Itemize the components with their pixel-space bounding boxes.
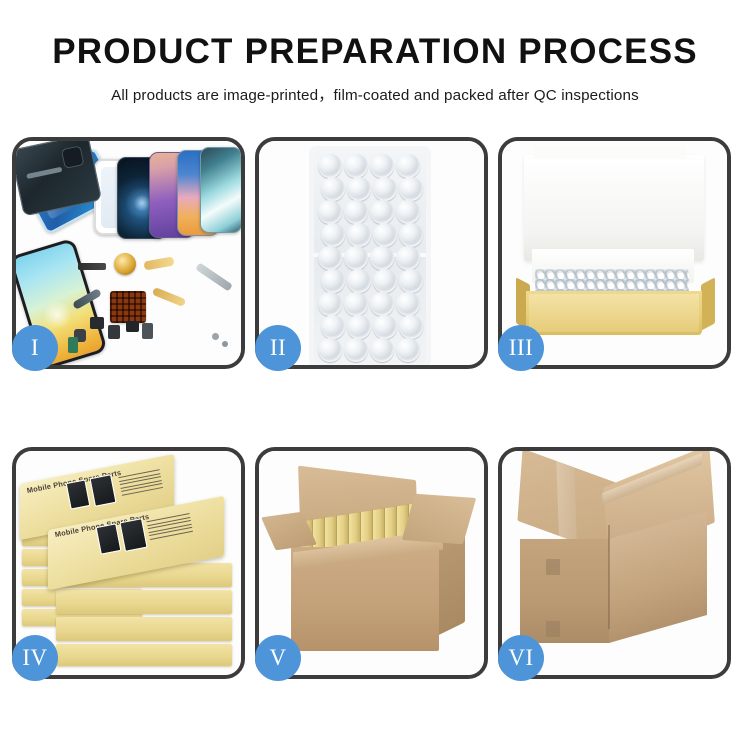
panel-carton-filled[interactable]: V bbox=[255, 447, 488, 679]
bubble bbox=[321, 177, 345, 201]
bubble bbox=[396, 200, 420, 224]
sealed-carton-face-left bbox=[520, 539, 610, 643]
bubble bbox=[396, 292, 420, 316]
flex-cable-gold-b bbox=[152, 287, 187, 307]
bubble bbox=[399, 269, 423, 293]
panel-badge-6: VI bbox=[498, 635, 544, 681]
panel-badge-1: I bbox=[12, 325, 58, 371]
page-header: PRODUCT PREPARATION PROCESS All products… bbox=[0, 0, 750, 105]
bubble bbox=[399, 223, 423, 247]
bubble bbox=[347, 269, 371, 293]
bubble bbox=[318, 338, 342, 362]
sealed-carton-tab-bottom bbox=[546, 621, 560, 637]
bubble bbox=[370, 338, 394, 362]
panel-inner-box[interactable]: III bbox=[498, 137, 731, 369]
panel-badge-3: III bbox=[498, 325, 544, 371]
screw-part-a bbox=[212, 333, 219, 340]
bubble bbox=[344, 154, 368, 178]
process-panel-grid: I II III bbox=[12, 137, 738, 682]
bubble bbox=[318, 292, 342, 316]
box-label-lines-top bbox=[118, 469, 163, 498]
bubble bbox=[347, 223, 371, 247]
box-label-screen-second-2 bbox=[119, 518, 147, 552]
bubble bbox=[373, 315, 397, 339]
chip-part-a bbox=[90, 317, 104, 329]
panel-bubble-wrap[interactable]: II bbox=[255, 137, 488, 369]
box-label-lines-second bbox=[146, 513, 193, 543]
copper-mesh-part bbox=[110, 291, 146, 323]
box-label-screen-top-2 bbox=[89, 474, 116, 507]
screw-part-b bbox=[222, 341, 228, 347]
box-lid-tab bbox=[534, 147, 686, 159]
panel-carton-sealed[interactable]: VI bbox=[498, 447, 731, 679]
copper-coil-part bbox=[114, 253, 136, 275]
bubble bbox=[396, 154, 420, 178]
bubble bbox=[321, 223, 345, 247]
sealed-carton-tab-top bbox=[546, 559, 560, 575]
bubble bbox=[370, 200, 394, 224]
panel-boxes-stacked[interactable]: Mobile Phone Spare Parts Mobile Phone Sp… bbox=[12, 447, 245, 679]
bubble bbox=[370, 292, 394, 316]
sealed-carton-corner-edge bbox=[608, 525, 610, 629]
bubble bbox=[347, 177, 371, 201]
bubble bbox=[396, 338, 420, 362]
box-label-screen-top-1 bbox=[66, 479, 91, 509]
battery-part bbox=[142, 323, 153, 339]
bubble bbox=[318, 154, 342, 178]
bubble bbox=[344, 338, 368, 362]
bubble bbox=[396, 246, 420, 270]
bubble bbox=[344, 292, 368, 316]
box-front-inner bbox=[529, 294, 699, 332]
connector-green-part bbox=[68, 337, 78, 353]
bubble bbox=[321, 269, 345, 293]
panel-badge-4: IV bbox=[12, 635, 58, 681]
speaker-bar-part bbox=[78, 263, 106, 270]
bubble bbox=[399, 315, 423, 339]
bubble-wrap-sheet bbox=[314, 151, 426, 363]
box-front-yellow bbox=[526, 291, 702, 335]
tweezers-tool bbox=[195, 263, 233, 292]
box-side-right bbox=[701, 277, 715, 330]
bubble bbox=[370, 154, 394, 178]
chip-part-b bbox=[108, 325, 120, 339]
flex-cable-gold-a bbox=[143, 256, 174, 270]
bubble bbox=[344, 246, 368, 270]
bubble bbox=[344, 200, 368, 224]
chip-part-c bbox=[126, 321, 139, 332]
bubble bbox=[370, 246, 394, 270]
box-label-screen-second-1 bbox=[96, 523, 122, 554]
panel-products[interactable]: I bbox=[12, 137, 245, 369]
bubble bbox=[318, 246, 342, 270]
bubble bbox=[347, 315, 371, 339]
bubble bbox=[399, 177, 423, 201]
box-lid-open-white bbox=[524, 155, 704, 261]
bubble bbox=[373, 269, 397, 293]
page-title: PRODUCT PREPARATION PROCESS bbox=[0, 34, 750, 69]
carton-flap-right bbox=[402, 494, 476, 544]
bubble bbox=[373, 223, 397, 247]
panel-badge-5: V bbox=[255, 635, 301, 681]
bubble bbox=[318, 200, 342, 224]
page-subtitle: All products are image-printed，film-coat… bbox=[0, 83, 750, 105]
panel-badge-2: II bbox=[255, 325, 301, 371]
bubble bbox=[373, 177, 397, 201]
phone-screen-teal bbox=[200, 147, 241, 233]
bubble bbox=[321, 315, 345, 339]
